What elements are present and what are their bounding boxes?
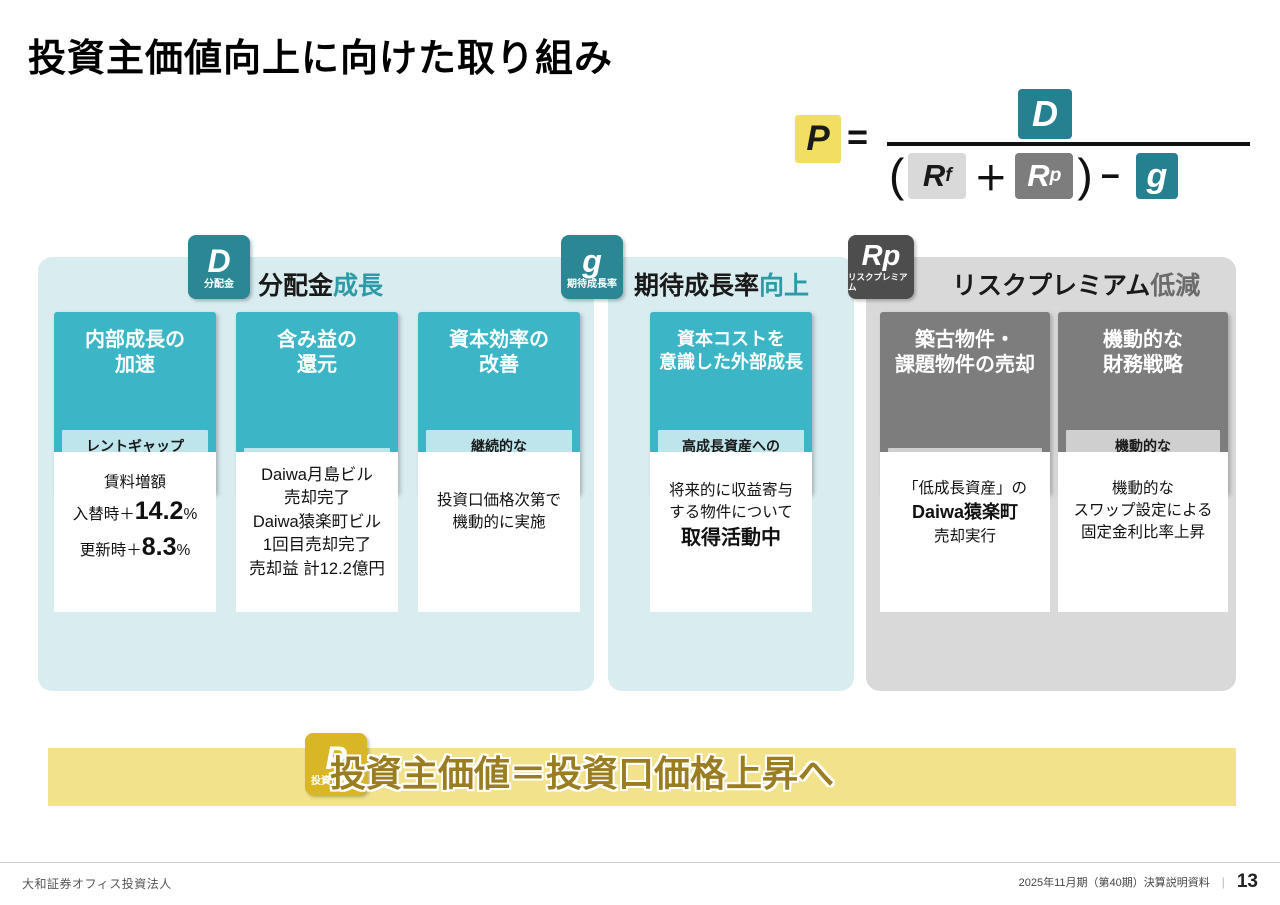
formula-plus: ＋ <box>968 152 1013 200</box>
formula-g-chip: g <box>1136 153 1178 199</box>
footer-page-number: 13 <box>1237 871 1258 893</box>
footer-separator: | <box>1222 875 1225 889</box>
badge-rp-glyph: Rp <box>862 242 901 271</box>
section-heading-risk-premium-reduction: リスクプレミアム低減 <box>952 266 1200 302</box>
result-line: 機動的に実施 <box>424 512 574 534</box>
slide-root: 投資主価値向上に向けた取り組み P = D ( Rf ＋ Rp ) − g 分配… <box>0 0 1280 905</box>
result-unit: % <box>176 542 190 559</box>
formula-rf-chip: Rf <box>908 153 966 199</box>
strategy-title: 内部成長の 加速 <box>85 328 185 378</box>
strategy-column-external-growth: 資本コストを 意識した外部成長 高成長資産への 集中投資 将来的に収益寄与 する… <box>650 312 812 612</box>
strategy-column-financial-strategy: 機動的な 財務戦略 機動的な スワップ設定 機動的な スワップ設定による 固定金… <box>1058 312 1228 612</box>
section-heading-accent-1: 向上 <box>759 272 809 300</box>
title-line: 加速 <box>85 353 185 378</box>
formula-denominator: ( Rf ＋ Rp ) − g <box>887 148 1250 204</box>
formula-open-paren: ( <box>887 155 906 196</box>
result-line-emphasis: Daiwa猿楽町 <box>886 500 1044 526</box>
section-heading-base-2: リスクプレミアム <box>952 272 1150 300</box>
strategy-result: 「低成長資産」の Daiwa猿楽町 売却実行 <box>880 452 1050 612</box>
result-line: 更新時＋8.3% <box>60 530 210 566</box>
title-line: 資本コストを <box>659 328 803 351</box>
strategy-column-asset-disposal: 築古物件・ 課題物件の売却 継続的な売却活動 「低成長資産」の Daiwa猿楽町… <box>880 312 1050 612</box>
result-line: 売却益 計12.2億円 <box>242 558 392 581</box>
valuation-formula: P = D ( Rf ＋ Rp ) − g <box>795 92 1250 202</box>
title-line: 内部成長の <box>85 328 185 353</box>
title-line: 改善 <box>449 353 549 378</box>
result-line: 固定金利比率上昇 <box>1064 522 1222 544</box>
section-heading-distribution-growth: 分配金成長 <box>258 266 383 302</box>
formula-rf-sub: f <box>945 165 951 187</box>
section-heading-base-1: 期待成長率 <box>634 272 759 300</box>
result-line: する物件について <box>656 502 806 524</box>
result-line: 機動的な <box>1064 478 1222 500</box>
section-heading-accent-2: 低減 <box>1150 272 1200 300</box>
strategy-column-unrealized-gain: 含み益の 還元 含み益1,497億円 Daiwa月島ビル 売却完了 Daiwa猿… <box>236 312 398 612</box>
title-line: 還元 <box>277 353 357 378</box>
title-line: 築古物件・ <box>895 328 1035 353</box>
result-line: 投資口価格次第で <box>424 490 574 512</box>
result-line: 将来的に収益寄与 <box>656 480 806 502</box>
section-heading-expected-growth-rate: 期待成長率向上 <box>634 266 809 302</box>
badge-g-glyph: g <box>582 245 602 277</box>
formula-rp-main: R <box>1027 158 1049 194</box>
result-label: 更新時＋ <box>80 542 142 559</box>
formula-fraction-bar <box>887 142 1250 146</box>
footer-divider <box>0 862 1280 863</box>
page-title: 投資主価値向上に向けた取り組み <box>28 27 613 82</box>
result-line: 売却実行 <box>886 526 1044 548</box>
strategy-result: 機動的な スワップ設定による 固定金利比率上昇 <box>1058 452 1228 612</box>
result-line: 賃料増額 <box>60 472 210 494</box>
title-line: 含み益の <box>277 328 357 353</box>
formula-rf-main: R <box>923 158 945 194</box>
badge-g: g 期待成長率 <box>561 235 623 299</box>
result-line: 「低成長資産」の <box>886 478 1044 500</box>
formula-rp-sub: p <box>1050 165 1062 187</box>
result-line: 1回目売却完了 <box>242 534 392 557</box>
result-line: 入替時＋14.2% <box>60 494 210 530</box>
result-value: 8.3 <box>142 533 177 561</box>
strategy-column-capital-efficiency: 資本効率の 改善 継続的な 自己投資口取得 投資口価格次第で 機動的に実施 <box>418 312 580 612</box>
result-line: Daiwa月島ビル <box>242 464 392 487</box>
strategy-result: 投資口価格次第で 機動的に実施 <box>418 452 580 612</box>
formula-close-paren: ) <box>1075 155 1094 196</box>
footer-company-name: 大和証券オフィス投資法人 <box>22 875 172 892</box>
result-value: 14.2 <box>135 497 184 525</box>
result-line: スワップ設定による <box>1064 500 1222 522</box>
title-line: 機動的な <box>1103 328 1183 353</box>
badge-d: D 分配金 <box>188 235 250 299</box>
title-line: 課題物件の売却 <box>895 353 1035 378</box>
strategy-title: 築古物件・ 課題物件の売却 <box>895 328 1035 378</box>
formula-fraction: D ( Rf ＋ Rp ) − g <box>887 92 1250 204</box>
result-line: 売却完了 <box>242 487 392 510</box>
conclusion-banner-text: 投資主価値＝投資口価格上昇へ <box>330 745 834 797</box>
section-heading-accent-0: 成長 <box>333 272 383 300</box>
strategy-result: 将来的に収益寄与 する物件について 取得活動中 <box>650 452 812 612</box>
formula-minus: − <box>1095 157 1126 195</box>
result-line-emphasis: 取得活動中 <box>656 524 806 552</box>
formula-p-chip: P <box>795 115 841 163</box>
strategy-title: 含み益の 還元 <box>277 328 357 378</box>
badge-g-caption: 期待成長率 <box>567 279 617 290</box>
result-line: Daiwa猿楽町ビル <box>242 511 392 534</box>
section-heading-base-0: 分配金 <box>258 272 333 300</box>
strategy-title: 資本効率の 改善 <box>449 328 549 378</box>
strategy-result: 賃料増額 入替時＋14.2% 更新時＋8.3% <box>54 452 216 612</box>
strategy-result: Daiwa月島ビル 売却完了 Daiwa猿楽町ビル 1回目売却完了 売却益 計1… <box>236 452 398 612</box>
result-unit: % <box>183 506 197 523</box>
badge-d-caption: 分配金 <box>204 279 234 290</box>
formula-rp-chip: Rp <box>1015 153 1073 199</box>
title-line: 資本効率の <box>449 328 549 353</box>
strategy-title: 機動的な 財務戦略 <box>1103 328 1183 378</box>
strategy-title: 資本コストを 意識した外部成長 <box>659 328 803 373</box>
footer-document-title: 2025年11月期（第40期）決算説明資料 <box>1019 874 1210 890</box>
strategy-column-internal-growth: 内部成長の 加速 レントギャップ 10%台半ば 賃料増額 入替時＋14.2% 更… <box>54 312 216 612</box>
result-label: 入替時＋ <box>73 506 135 523</box>
title-line: 財務戦略 <box>1103 353 1183 378</box>
formula-d-chip: D <box>1018 89 1072 139</box>
formula-equals: = <box>847 116 868 158</box>
title-line: 意識した外部成長 <box>659 351 803 374</box>
badge-d-glyph: D <box>207 245 230 277</box>
formula-numerator: D <box>887 92 1250 140</box>
badge-rp: Rp リスクプレミアム <box>848 235 914 299</box>
footer-meta: 2025年11月期（第40期）決算説明資料 | 13 <box>1019 871 1258 893</box>
badge-rp-caption: リスクプレミアム <box>848 273 914 292</box>
